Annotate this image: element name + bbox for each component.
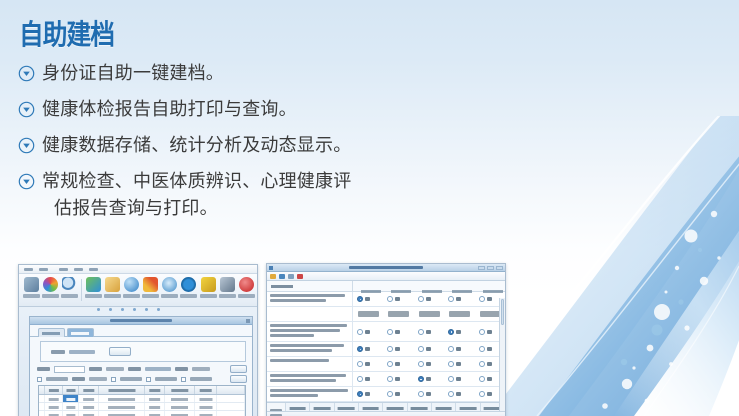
table-cell: [45, 411, 63, 416]
tab-basic-info[interactable]: [38, 328, 65, 337]
menu-item: [39, 268, 48, 271]
radio-button[interactable]: [418, 296, 424, 302]
option-1[interactable]: [353, 296, 383, 302]
dot: [133, 308, 136, 311]
option-1-subtitle: [353, 311, 383, 317]
option-3[interactable]: [414, 376, 444, 382]
menu-item: [89, 268, 98, 271]
webcam-icon: [162, 277, 177, 292]
toolbar-button-label: [142, 294, 159, 298]
toolbar-button-label: [219, 294, 236, 298]
tools-icon: [220, 277, 235, 292]
toolbar-button[interactable]: [180, 277, 198, 298]
list-item: 健康体检报告自助打印与查询。: [18, 96, 488, 123]
filter-checkbox-label: [120, 377, 142, 381]
option-3-subtitle: [414, 311, 444, 317]
question-text: [267, 372, 353, 386]
question-row: [267, 342, 505, 357]
list-item: 健康数据存储、统计分析及动态显示。: [18, 132, 488, 159]
toolbar-button-label: [85, 294, 102, 298]
record-navigator-panel: [40, 341, 246, 362]
list-item: 身份证自助一键建档。: [18, 60, 488, 87]
filter-row: [37, 375, 247, 383]
menu-bar: [19, 265, 257, 274]
question-text: [267, 292, 353, 306]
option-3[interactable]: [414, 361, 444, 367]
option-4[interactable]: [444, 376, 474, 382]
power-exit-icon: [239, 277, 254, 292]
option-group: [353, 376, 505, 382]
chevron-down-circle-icon: [18, 65, 35, 82]
table-header-cell: [165, 386, 195, 394]
option-4[interactable]: [444, 346, 474, 352]
option-1[interactable]: [353, 361, 383, 367]
slide-root: 自助建档 身份证自助一键建档。 健康体检报告自助打印与查询。: [0, 0, 739, 416]
list-item-line-1: 健康体检报告自助打印与查询。: [42, 99, 297, 120]
close-icon[interactable]: [246, 319, 250, 323]
bar-chart-icon: [143, 277, 158, 292]
filter-checkbox-label: [46, 377, 68, 381]
query-button[interactable]: [109, 347, 131, 356]
record-nav-buttons[interactable]: [145, 367, 171, 371]
radio-button[interactable]: [418, 376, 424, 382]
question-text: [267, 387, 353, 401]
filter-action-button[interactable]: [230, 365, 247, 373]
toolbar-button[interactable]: [60, 277, 78, 298]
radio-button[interactable]: [448, 361, 454, 367]
feature-bullet-list: 身份证自助一键建档。 健康体检报告自助打印与查询。: [18, 60, 488, 231]
questionnaire-area: [267, 281, 505, 416]
radio-button[interactable]: [448, 346, 454, 352]
toolbar-button-label: [238, 294, 255, 298]
table-cell: [99, 395, 145, 402]
filter-input[interactable]: [54, 366, 85, 373]
decorative-dot-row: [97, 308, 160, 311]
power-chart-icon: [181, 277, 196, 292]
filter-checkbox[interactable]: [111, 377, 116, 382]
menu-item: [59, 268, 68, 271]
radio-button[interactable]: [479, 329, 485, 335]
radio-button[interactable]: [418, 346, 424, 352]
table-cell: [145, 411, 165, 416]
status-bar: [267, 411, 505, 416]
option-subtitle-row: [267, 307, 505, 322]
window-title: [349, 266, 423, 269]
app-icon: [269, 266, 273, 270]
toolbar-button[interactable]: [41, 277, 59, 298]
table-header-cell: [195, 386, 217, 394]
filter-value: [106, 367, 124, 371]
radio-button[interactable]: [448, 376, 454, 382]
close-icon[interactable]: [496, 266, 503, 270]
screenshot-thumbnail-right[interactable]: [266, 263, 506, 416]
list-item-label: 健康体检报告自助打印与查询。: [42, 96, 297, 123]
option-3[interactable]: [414, 391, 444, 397]
table-cell: [79, 403, 99, 410]
radio-button[interactable]: [387, 391, 393, 397]
toolbar-button-label: [161, 294, 178, 298]
option-group: [353, 311, 505, 317]
option-1[interactable]: [353, 391, 383, 397]
question-column-header: [267, 281, 353, 291]
option-group: [353, 391, 505, 397]
chevron-down-circle-icon: [18, 173, 35, 190]
table-cell: [79, 411, 99, 416]
option-2[interactable]: [383, 296, 413, 302]
child-window-titlebar: [30, 317, 252, 325]
radio-button[interactable]: [418, 391, 424, 397]
option-4[interactable]: [444, 296, 474, 302]
toolbar-button-label: [61, 294, 78, 298]
option-2[interactable]: [383, 346, 413, 352]
delete-icon[interactable]: [297, 274, 303, 279]
filter-label: [175, 367, 188, 371]
table-cell: [165, 403, 195, 410]
maximize-icon[interactable]: [487, 266, 494, 270]
toolbar-button-label: [23, 294, 40, 298]
chevron-down-circle-icon: [18, 101, 35, 118]
toolbar-button-label: [104, 294, 121, 298]
globe-icon: [124, 277, 139, 292]
option-1[interactable]: [353, 346, 383, 352]
radio-button[interactable]: [479, 391, 485, 397]
toolbar-button[interactable]: [123, 277, 141, 298]
radio-button[interactable]: [357, 361, 363, 367]
filter-label: [37, 367, 50, 371]
toolbar-button[interactable]: [104, 277, 122, 298]
radio-button[interactable]: [387, 329, 393, 335]
toolbar-button[interactable]: [22, 277, 40, 298]
list-item-label: 身份证自助一键建档。: [42, 60, 224, 87]
option-3[interactable]: [414, 296, 444, 302]
option-4-subtitle: [444, 311, 474, 317]
radio-button[interactable]: [418, 329, 424, 335]
table-cell: [217, 395, 245, 402]
tab-archive-query[interactable]: [67, 328, 94, 337]
table-cell: [165, 411, 195, 416]
table-cell: [165, 395, 195, 402]
toolbar-button[interactable]: [161, 277, 179, 298]
list-item: 常规检查、中医体质辨识、心理健康评 估报告查询与打印。: [18, 168, 488, 222]
new-icon[interactable]: [270, 274, 276, 279]
table-cell: [195, 403, 217, 410]
radio-button[interactable]: [357, 296, 363, 302]
table-cell: [99, 403, 145, 410]
option-4[interactable]: [444, 361, 474, 367]
minimize-icon[interactable]: [478, 266, 485, 270]
table-cell: [99, 411, 145, 416]
print-icon[interactable]: [288, 274, 294, 279]
radio-button[interactable]: [357, 329, 363, 335]
dot: [109, 308, 112, 311]
chevron-down-circle-icon: [18, 137, 35, 154]
list-item-label: 常规检查、中医体质辨识、心理健康评 估报告查询与打印。: [42, 168, 351, 222]
option-4[interactable]: [444, 391, 474, 397]
table-cell: [195, 395, 217, 402]
option-1[interactable]: [353, 376, 383, 382]
radio-button[interactable]: [448, 391, 454, 397]
option-2[interactable]: [383, 391, 413, 397]
radio-button[interactable]: [479, 346, 485, 352]
filter-checkbox[interactable]: [37, 377, 42, 382]
table-cell: [63, 395, 79, 402]
option-1[interactable]: [353, 329, 383, 335]
question-row: [267, 292, 505, 307]
filter-label: [128, 367, 141, 371]
question-text: [267, 357, 353, 371]
table-cell: [195, 411, 217, 416]
table-cell: [45, 403, 63, 410]
mdi-child-window: [29, 316, 253, 416]
table-cell: [63, 403, 79, 410]
question-row: [267, 372, 505, 387]
screenshot-thumbnail-left[interactable]: [18, 264, 258, 416]
page-title: 自助建档: [19, 18, 114, 52]
table-header-cell: [45, 386, 63, 394]
radio-button[interactable]: [387, 346, 393, 352]
window-titlebar: [267, 264, 505, 272]
save-icon[interactable]: [279, 274, 285, 279]
child-window-title: [110, 319, 172, 322]
radio-button[interactable]: [479, 361, 485, 367]
filter-value: [192, 367, 210, 371]
table-cell: [45, 395, 63, 402]
records-table[interactable]: [38, 385, 246, 416]
radio-button[interactable]: [479, 296, 485, 302]
toolbar-button[interactable]: [218, 277, 236, 298]
table-row[interactable]: [39, 395, 245, 403]
list-item-line-1: 常规检查、中医体质辨识、心理健康评: [42, 171, 351, 192]
radio-button[interactable]: [387, 296, 393, 302]
dot: [121, 308, 124, 311]
list-item-line-1: 健康数据存储、统计分析及动态显示。: [42, 135, 351, 156]
toolbar-button[interactable]: [237, 277, 255, 298]
document-icon: [105, 277, 120, 292]
radio-button[interactable]: [387, 376, 393, 382]
radio-button[interactable]: [479, 376, 485, 382]
radio-button[interactable]: [448, 329, 454, 335]
radio-button[interactable]: [357, 391, 363, 397]
table-header-cell: [217, 386, 245, 394]
table-header-cell: [145, 386, 165, 394]
table-header-cell: [79, 386, 99, 394]
archive-icon: [24, 277, 39, 292]
option-2[interactable]: [383, 361, 413, 367]
toolbar-button[interactable]: [142, 277, 160, 298]
option-group: [353, 296, 505, 302]
table-header-cell: [99, 386, 145, 394]
table-row[interactable]: [39, 411, 245, 416]
toolbar-button-label: [200, 294, 217, 298]
dot: [145, 308, 148, 311]
toolbar: [19, 274, 257, 307]
question-row: [267, 322, 505, 342]
scrollbar-thumb[interactable]: [501, 299, 504, 325]
toolbar-separator: [81, 279, 82, 301]
vertical-scrollbar[interactable]: [499, 298, 505, 411]
option-2-subtitle: [383, 311, 413, 317]
key-icon: [201, 277, 216, 292]
toolbar-button[interactable]: [199, 277, 217, 298]
toolbar-button-label: [123, 294, 140, 298]
list-item-label: 健康数据存储、统计分析及动态显示。: [42, 132, 351, 159]
menu-item: [24, 268, 33, 271]
radio-button[interactable]: [387, 361, 393, 367]
dot: [157, 308, 160, 311]
option-3[interactable]: [414, 329, 444, 335]
search-icon: [62, 277, 77, 292]
menu-item: [74, 268, 83, 271]
question-text: [267, 307, 353, 321]
table-header-row: [39, 386, 245, 395]
toolbar-button[interactable]: [85, 277, 103, 298]
filter-checkbox-label: [190, 377, 212, 381]
table-cell: [145, 395, 165, 402]
tab-label: [71, 332, 89, 335]
table-cell: [145, 403, 165, 410]
radio-button[interactable]: [418, 361, 424, 367]
option-group: [353, 346, 505, 352]
option-2[interactable]: [383, 329, 413, 335]
table-cell: [217, 411, 245, 416]
toolbar-button-label: [42, 294, 59, 298]
table-header-cell: [63, 386, 79, 394]
filter-label: [89, 367, 102, 371]
record-nav-buttons[interactable]: [69, 350, 95, 354]
questionnaire-header-row: [267, 281, 505, 292]
table-cell: [63, 411, 79, 416]
option-group: [353, 361, 505, 367]
filter-checkbox-label: [155, 377, 177, 381]
filter-value: [89, 377, 107, 381]
filter-row: [37, 365, 247, 373]
table-cell: [79, 395, 99, 402]
table-row[interactable]: [39, 403, 245, 411]
filter-label: [72, 377, 85, 381]
navigator-label: [51, 350, 65, 354]
window-controls[interactable]: [478, 266, 503, 270]
question-row: [267, 387, 505, 402]
water-drop-icon: [86, 277, 101, 292]
toolbar-button-label: [180, 294, 197, 298]
radio-button[interactable]: [357, 376, 363, 382]
dot: [97, 308, 100, 311]
filter-checkbox[interactable]: [146, 377, 151, 382]
color-wheel-icon: [43, 277, 58, 292]
radio-button[interactable]: [357, 346, 363, 352]
list-item-line-1: 身份证自助一键建档。: [42, 63, 224, 84]
question-row: [267, 357, 505, 372]
toolbar: [267, 272, 505, 281]
table-cell: [217, 403, 245, 410]
app-workspace: [19, 307, 257, 416]
option-4[interactable]: [444, 329, 474, 335]
filter-checkbox[interactable]: [181, 377, 186, 382]
filter-action-button[interactable]: [230, 375, 247, 383]
tab-label: [42, 332, 60, 335]
radio-button[interactable]: [448, 296, 454, 302]
option-group: [353, 329, 505, 335]
filter-area: [30, 362, 252, 383]
option-3[interactable]: [414, 346, 444, 352]
list-item-line-2: 估报告查询与打印。: [42, 195, 351, 222]
question-text: [267, 322, 353, 341]
tab-bar: [30, 325, 252, 337]
question-text: [267, 342, 353, 356]
option-2[interactable]: [383, 376, 413, 382]
